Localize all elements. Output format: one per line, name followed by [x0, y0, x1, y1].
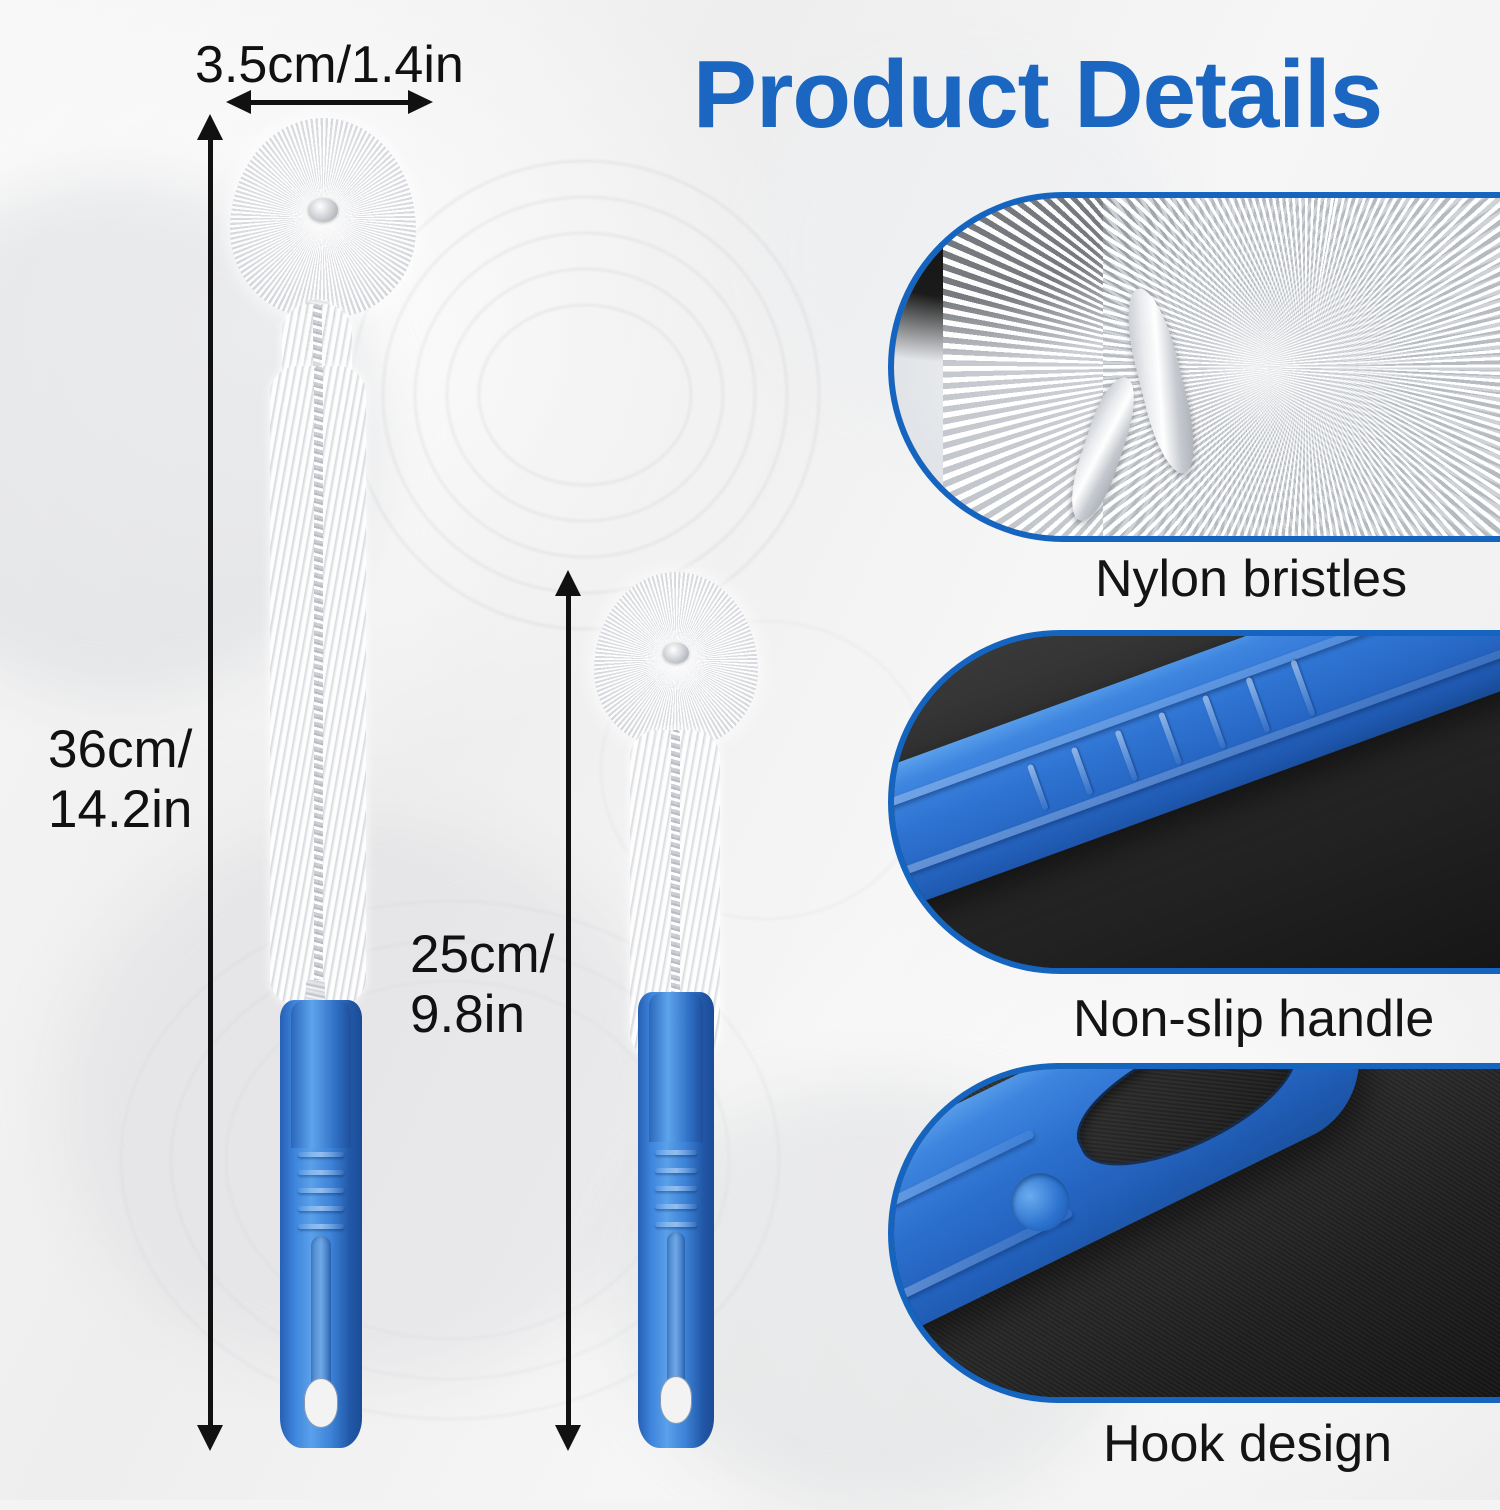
- brush-head: [594, 572, 758, 748]
- dimension-line-long-brush: [208, 140, 213, 1425]
- handle-grip-ridge: [1071, 747, 1094, 796]
- hook-macro-photo: [894, 1069, 1500, 1397]
- feature-panel-nylon-bristles[interactable]: [888, 192, 1500, 542]
- handle-grip-ridge: [298, 1188, 344, 1193]
- blue-handle-hook-closeup: [888, 1063, 1390, 1355]
- handle-grip-ridge: [298, 1206, 344, 1211]
- hook-hole: [1059, 1063, 1314, 1192]
- water-ripple: [478, 304, 692, 486]
- handle-grip-ridge: [1246, 677, 1271, 733]
- handle-hook-hole: [660, 1376, 692, 1424]
- arrowhead-down-icon: [197, 1425, 223, 1451]
- bristle-macro-photo: [894, 198, 1500, 536]
- blue-handle-closeup: [888, 630, 1500, 917]
- handle-grip-ridge: [1114, 729, 1138, 781]
- handle-groove: [897, 630, 1500, 877]
- arrowhead-up-icon: [555, 570, 581, 596]
- dimension-label-head-width: 3.5cm/1.4in: [195, 34, 464, 96]
- brush-head: [230, 118, 416, 318]
- handle-hook-hole: [304, 1378, 338, 1428]
- handle-grip-ridge: [298, 1152, 344, 1157]
- feature-caption-non-slip-handle: Non-slip handle: [1073, 990, 1434, 1048]
- page-title: Product Details: [585, 42, 1490, 147]
- handle-grip-ridge: [655, 1168, 698, 1173]
- handle-neck: [649, 992, 704, 1142]
- handle-grip-ridge: [1158, 712, 1182, 765]
- product-long-bottle-brush: [222, 118, 422, 1448]
- feature-panel-non-slip-handle[interactable]: [888, 630, 1500, 974]
- handle-stud: [1474, 630, 1500, 632]
- feature-caption-hook-design: Hook design: [1103, 1415, 1392, 1473]
- dimension-line-short-brush: [566, 596, 571, 1425]
- brush-wire-hub: [308, 198, 338, 222]
- handle-groove: [888, 630, 1500, 812]
- handle-neck: [291, 1000, 350, 1148]
- brush-handle: [638, 992, 714, 1448]
- arrowhead-up-icon: [197, 114, 223, 140]
- handle-grip-ridge: [655, 1150, 698, 1155]
- handle-grip-ridge: [1202, 695, 1227, 749]
- feature-caption-nylon-bristles: Nylon bristles: [1095, 550, 1407, 608]
- handle-grip-ridge: [1027, 764, 1049, 811]
- dimension-label-short-brush: 25cm/ 9.8in: [410, 925, 554, 1045]
- handle-grip-ridge: [298, 1170, 344, 1175]
- handle-macro-photo: [894, 636, 1500, 968]
- dimension-label-long-brush: 36cm/ 14.2in: [48, 720, 192, 840]
- handle-grip-ridge: [655, 1222, 698, 1227]
- brush-shaft: [270, 366, 366, 1006]
- dimension-line-horizontal: [246, 100, 411, 105]
- handle-rib: [888, 1128, 1036, 1239]
- brush-wire-core: [314, 366, 323, 1006]
- product-short-bottle-brush: [586, 572, 766, 1448]
- feature-panel-hook-design[interactable]: [888, 1063, 1500, 1403]
- handle-stud: [1002, 1162, 1080, 1240]
- handle-grip-ridge: [655, 1204, 698, 1209]
- brush-handle: [280, 1000, 362, 1448]
- handle-grip-ridge: [298, 1224, 344, 1229]
- arrowhead-down-icon: [555, 1425, 581, 1451]
- handle-grip-ridge: [655, 1186, 698, 1191]
- handle-grip-ridge: [1290, 660, 1316, 717]
